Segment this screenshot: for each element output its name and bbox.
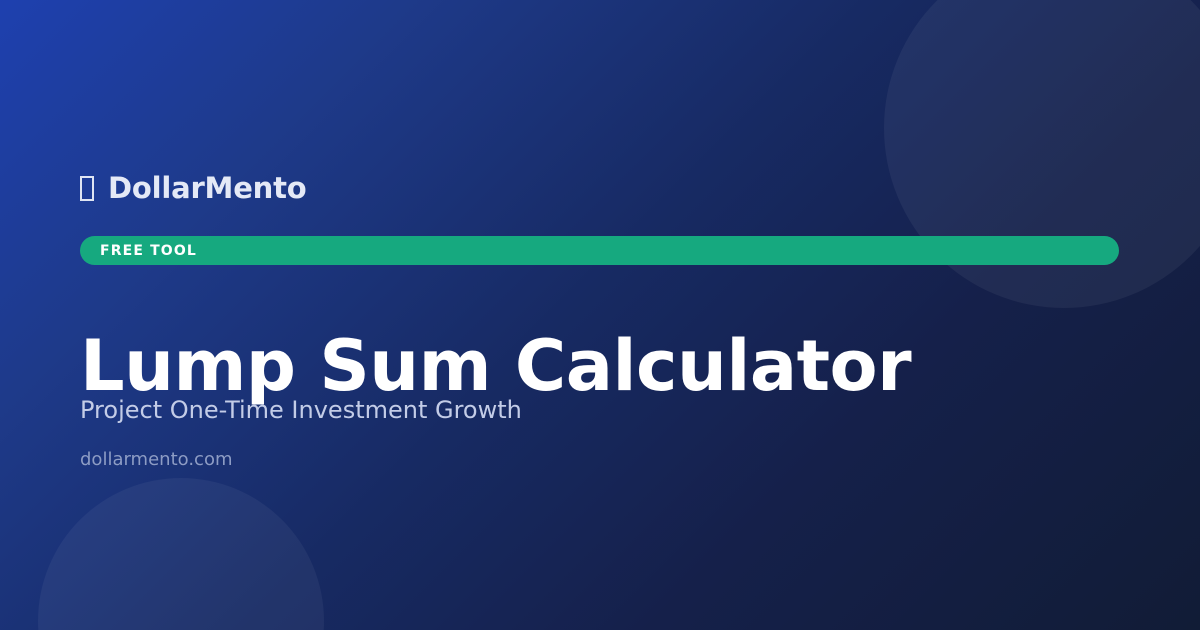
brand-name: DollarMento — [108, 174, 307, 203]
page-subtitle: Project One-Time Investment Growth — [80, 396, 522, 425]
missing-glyph-box-icon — [80, 176, 94, 201]
site-url: dollarmento.com — [80, 449, 233, 471]
og-share-card: DollarMento FREE TOOL Lump Sum Calculato… — [0, 0, 1200, 630]
badge-label: FREE TOOL — [80, 244, 197, 258]
brand-logo: DollarMento — [80, 174, 307, 203]
free-tool-badge: FREE TOOL — [80, 236, 1119, 265]
card-content: DollarMento FREE TOOL Lump Sum Calculato… — [80, 0, 1120, 630]
page-title: Lump Sum Calculator — [80, 328, 911, 405]
